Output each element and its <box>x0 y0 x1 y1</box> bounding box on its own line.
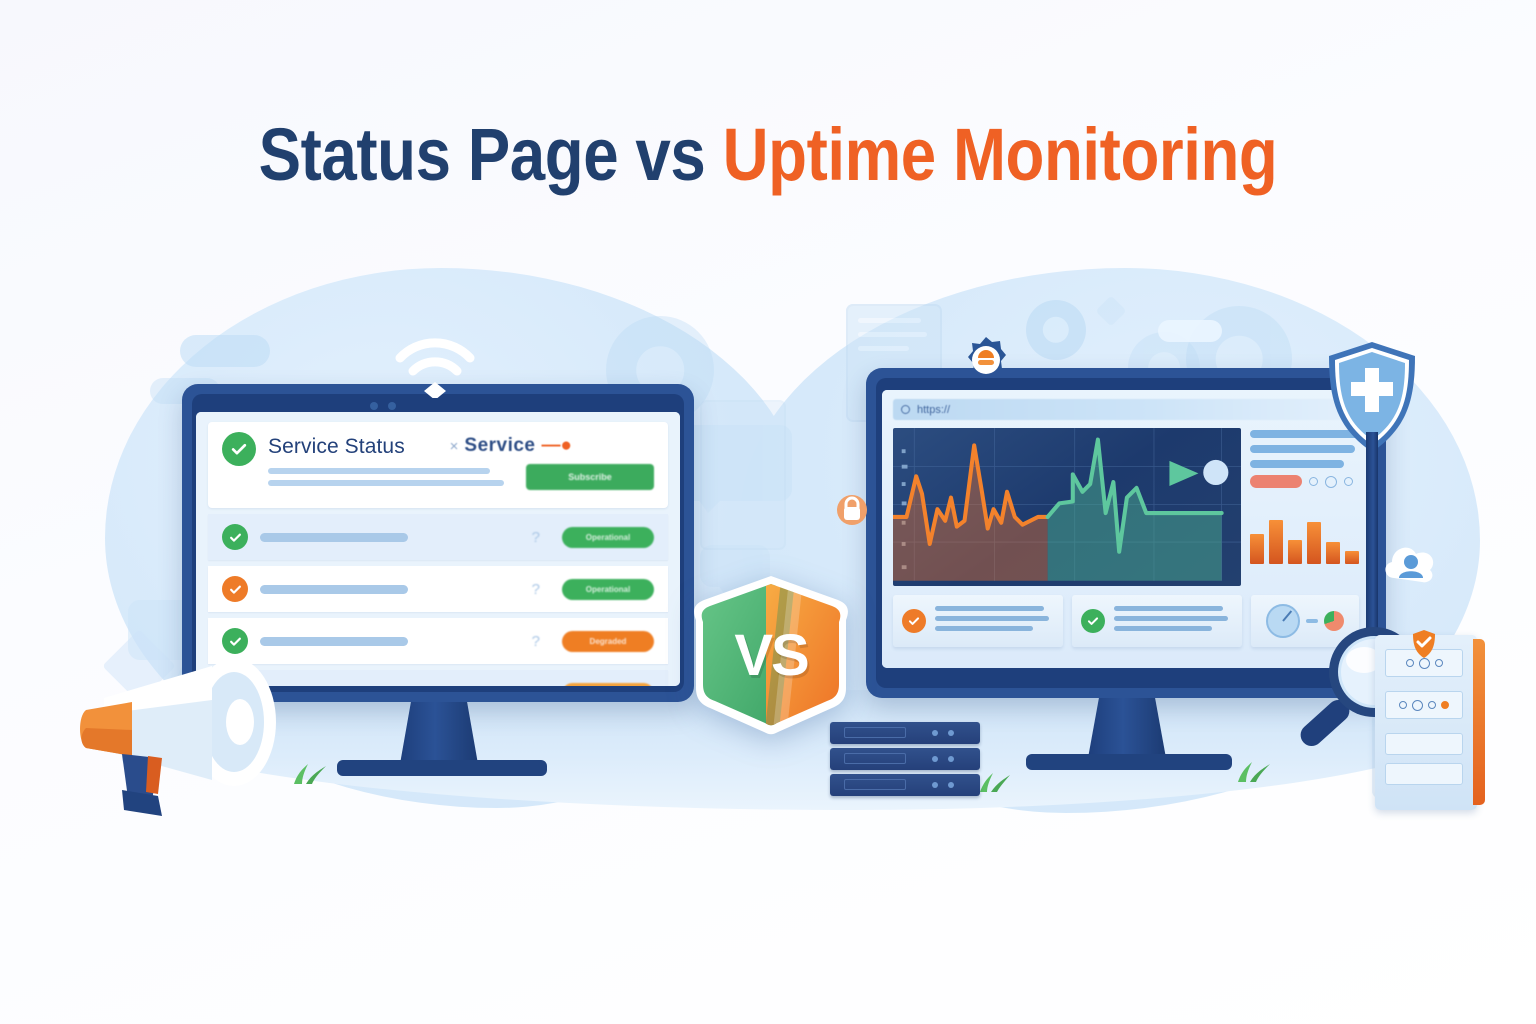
grass-icon <box>290 762 342 784</box>
card-skeleton-lines <box>935 606 1054 636</box>
cloud-icon <box>1158 320 1222 342</box>
circle-indicator <box>1325 476 1337 488</box>
gear-badge-icon <box>962 336 1010 384</box>
brand-accent: —● <box>542 435 572 457</box>
side-skeleton-line <box>1250 460 1344 468</box>
title-part-uptime-monitoring: Uptime Monitoring <box>723 113 1278 196</box>
row-label-skeleton <box>260 533 408 542</box>
url-text: https:// <box>917 404 950 416</box>
vs-label: VS <box>686 570 856 740</box>
document-icon <box>700 400 786 550</box>
card-skeleton-lines <box>1114 606 1233 636</box>
monitor-stand-base <box>337 760 547 776</box>
table-row[interactable]: ? Operational <box>208 566 668 612</box>
server-rack-icon <box>1375 635 1485 810</box>
camera-dot <box>370 402 378 410</box>
status-badge: Operational <box>562 579 654 600</box>
check-circle-icon <box>222 576 248 602</box>
circle-indicator <box>1309 477 1318 486</box>
uptime-bar-chart <box>1250 506 1359 564</box>
vs-badge: VS <box>686 570 856 740</box>
row-meta: ? <box>420 581 550 598</box>
status-badge: Degraded <box>562 631 654 652</box>
gear-icon <box>1026 300 1086 360</box>
brand-name: Service <box>464 435 535 457</box>
row-meta: ? <box>420 633 550 650</box>
alert-row <box>1250 475 1359 488</box>
status-badge: Operational <box>562 527 654 548</box>
brand-logo: × Service —● <box>450 435 572 457</box>
rack-edge <box>1473 639 1485 805</box>
status-card[interactable] <box>893 595 1063 647</box>
monitor-stand-neck <box>1088 698 1166 758</box>
wifi-icon <box>392 336 478 398</box>
server-unit <box>830 722 980 744</box>
row-label-skeleton <box>260 585 408 594</box>
grass-icon <box>1234 760 1280 782</box>
bar <box>1307 522 1321 564</box>
title-part-status-page: Status Page vs <box>259 113 723 196</box>
circle-indicator <box>1344 477 1353 486</box>
response-time-chart <box>893 428 1241 586</box>
alert-pill <box>1250 475 1302 488</box>
monitor-stand-base <box>1026 754 1232 770</box>
check-circle-icon <box>222 432 256 466</box>
row-meta: ? <box>420 685 550 687</box>
status-dot <box>1203 460 1228 485</box>
server-unit <box>830 774 980 796</box>
bar <box>1269 520 1283 564</box>
subscribe-button[interactable]: Subscribe <box>526 464 654 490</box>
close-icon: × <box>450 438 459 455</box>
rack-slot <box>1385 733 1463 755</box>
check-circle-icon <box>222 524 248 550</box>
rack-slot <box>1385 763 1463 785</box>
row-meta: ? <box>420 529 550 546</box>
monitor-right-edge <box>1366 432 1378 642</box>
monitor-stand-neck <box>400 702 478 764</box>
cloud-icon <box>180 335 270 367</box>
url-bar[interactable]: https:// <box>893 399 1359 420</box>
globe-icon <box>901 405 910 414</box>
server-stack-icon <box>830 722 980 806</box>
table-row[interactable]: ? Operational <box>208 514 668 560</box>
user-cloud-icon <box>1380 538 1442 594</box>
shield-check-icon <box>1411 629 1437 659</box>
megaphone-icon <box>62 630 312 830</box>
bar <box>1288 540 1302 564</box>
play-triangle-icon <box>1169 461 1198 486</box>
status-badge <box>562 683 654 687</box>
bar <box>1345 551 1359 564</box>
server-unit <box>830 748 980 770</box>
check-circle-icon <box>902 609 926 633</box>
chart-svg <box>893 428 1241 581</box>
check-circle-icon <box>1081 609 1105 633</box>
series-recovered-area <box>1048 440 1222 581</box>
status-page-header: Service Status × Service —● Subscribe <box>208 422 668 508</box>
camera-dot <box>388 402 396 410</box>
dashboard-body <box>893 428 1359 586</box>
lock-icon <box>836 490 868 530</box>
page-title: Status Page vs Uptime Monitoring <box>0 118 1536 192</box>
grass-icon <box>976 772 1020 792</box>
bar <box>1326 542 1340 564</box>
illustration-canvas: Status Page vs Uptime Monitoring <box>0 0 1536 1024</box>
status-card[interactable] <box>1072 595 1242 647</box>
rack-slot <box>1385 691 1463 719</box>
bar <box>1250 534 1264 564</box>
